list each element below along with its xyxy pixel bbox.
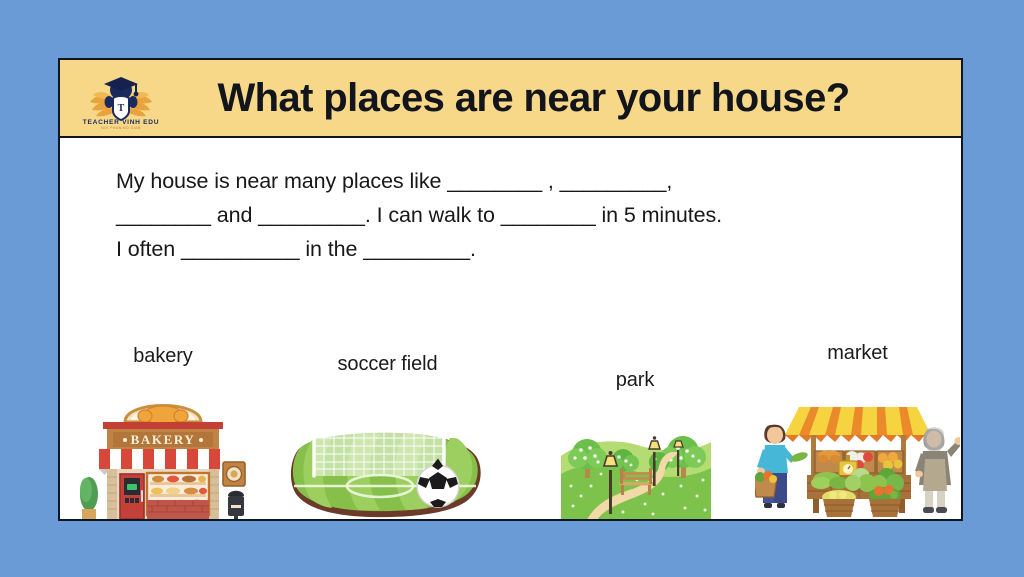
picture-label-bakery: bakery — [58, 345, 268, 368]
market-basket-left — [822, 490, 856, 517]
market-basket-right — [869, 485, 901, 517]
market-stall-illustration — [755, 373, 960, 521]
vocabulary-picture-row: bakery BAKERY — [60, 315, 961, 521]
prompt-line-1: My house is near many places like ______… — [116, 164, 916, 198]
bakery-sign-text: BAKERY — [131, 432, 196, 447]
picture-item-bakery: bakery BAKERY — [58, 345, 268, 521]
prompt-line-3: I often __________ in the _________. — [116, 232, 916, 266]
bakery-open-sign — [127, 484, 137, 490]
slide-header: T TEACHER VINH EDU NOI PHAN NO GIAN What… — [60, 60, 961, 138]
market-shopper-figure — [755, 425, 809, 508]
logo-wordmark: TEACHER VINH EDU — [83, 119, 159, 126]
logo-subtext: NOI PHAN NO GIAN — [101, 126, 141, 130]
picture-item-market: market — [750, 342, 963, 521]
prompt-line-2: ________ and _________. I can walk to __… — [116, 198, 916, 232]
picture-label-market: market — [750, 342, 963, 365]
market-vendor-figure — [915, 427, 960, 513]
worksheet-slide-card: T TEACHER VINH EDU NOI PHAN NO GIAN What… — [58, 58, 963, 521]
teacher-vinh-edu-logo: T TEACHER VINH EDU NOI PHAN NO GIAN — [82, 68, 160, 130]
park-illustration — [553, 408, 718, 521]
picture-item-park: park — [540, 369, 730, 521]
svg-text:T: T — [118, 103, 125, 114]
bakery-shop-illustration: BAKERY — [63, 378, 263, 521]
picture-label-park: park — [540, 369, 730, 392]
picture-item-soccer-field: soccer field — [275, 353, 500, 521]
page-title: What places are near your house? — [60, 76, 961, 121]
soccer-field-illustration — [280, 398, 495, 521]
prompt-paragraph: My house is near many places like ______… — [116, 164, 916, 266]
picture-label-soccer-field: soccer field — [275, 353, 500, 376]
